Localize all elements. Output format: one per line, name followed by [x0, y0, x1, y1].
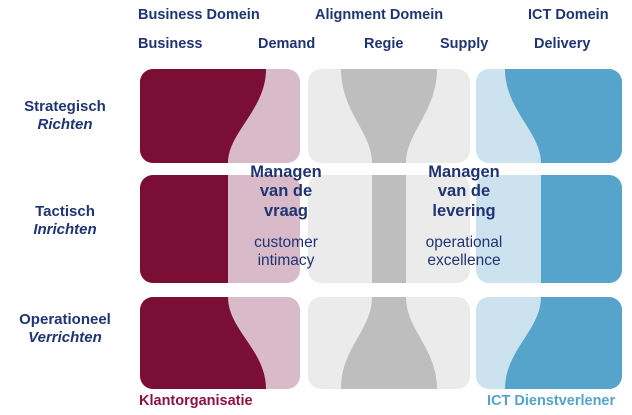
demand-title-line2: van de: [231, 182, 341, 201]
row-label-strategisch-line2: Richten: [0, 116, 130, 134]
supply-title-line2: van de: [405, 182, 523, 201]
demand-title-line3: vraag: [231, 202, 341, 221]
caption-klantorganisatie: Klantorganisatie: [139, 394, 253, 409]
supply-subtitle-line2: excellence: [405, 252, 523, 270]
center-text-supply: Managen van de levering operational exce…: [405, 163, 523, 270]
demand-title-line1: Managen: [231, 163, 341, 182]
header-ict-domein: ICT Domein: [528, 8, 609, 23]
subheader-delivery: Delivery: [534, 37, 590, 52]
row-label-tactisch: Tactisch Inrichten: [0, 203, 130, 240]
caption-ict-dienstverlener: ICT Dienstverlener: [487, 394, 615, 409]
subheader-supply: Supply: [440, 37, 488, 52]
row-label-operationeel-line1: Operationeel: [0, 311, 130, 329]
header-business-domein: Business Domein: [138, 8, 260, 23]
supply-title-line3: levering: [405, 202, 523, 221]
row-label-strategisch-line1: Strategisch: [0, 98, 130, 116]
header-alignment-domein: Alignment Domein: [315, 8, 443, 23]
supply-title-line1: Managen: [405, 163, 523, 182]
supply-spacer: [405, 221, 523, 234]
demand-subtitle-line2: intimacy: [231, 252, 341, 270]
demand-spacer: [231, 221, 341, 234]
supply-subtitle-line1: operational: [405, 234, 523, 252]
row-label-operationeel: Operationeel Verrichten: [0, 311, 130, 348]
demand-subtitle-line1: customer: [231, 234, 341, 252]
subheader-regie: Regie: [364, 37, 404, 52]
diagram-canvas: Business Domein Alignment Domein ICT Dom…: [0, 0, 632, 415]
row-label-tactisch-line2: Inrichten: [0, 221, 130, 239]
subheader-business: Business: [138, 37, 202, 52]
subheader-demand: Demand: [258, 37, 315, 52]
row-label-strategisch: Strategisch Richten: [0, 98, 130, 135]
row-label-tactisch-line1: Tactisch: [0, 203, 130, 221]
row-label-operationeel-line2: Verrichten: [0, 329, 130, 347]
center-text-demand: Managen van de vraag customer intimacy: [231, 163, 341, 270]
